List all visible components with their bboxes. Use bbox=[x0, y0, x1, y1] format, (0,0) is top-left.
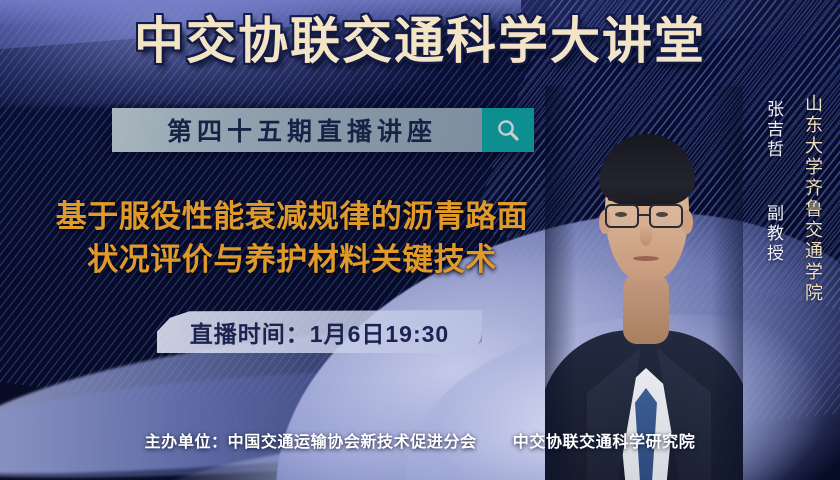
portrait-edge-fade bbox=[545, 86, 743, 480]
page-title: 基于服役性能衰减规律的沥青路面 状况评价与养护材料关键技术 bbox=[18, 196, 566, 282]
search-icon[interactable] bbox=[482, 108, 534, 152]
live-stream-poster: 中交协联交通科学大讲堂 第四十五期直播讲座 基于服役性能衰减规律的沥青路面 状况… bbox=[0, 0, 840, 480]
episode-banner: 第四十五期直播讲座 bbox=[112, 108, 534, 152]
page-title-line1: 基于服役性能衰减规律的沥青路面 bbox=[56, 199, 529, 234]
organizer-footer: 主办单位：中国交通运输协会新技术促进分会 中交协联交通科学研究院 bbox=[0, 428, 840, 452]
organizer-secondary: 中交协联交通科学研究院 bbox=[513, 434, 696, 451]
speaker-portrait bbox=[545, 86, 743, 480]
organizer-primary: 主办单位：中国交通运输协会新技术促进分会 bbox=[145, 434, 477, 451]
speaker-name-title: 张吉哲 副教授 bbox=[761, 100, 787, 264]
broadcast-time-badge: 直播时间：1月6日19:30 bbox=[157, 310, 482, 353]
speaker-affiliation: 山东大学齐鲁交通学院 bbox=[799, 94, 826, 304]
episode-banner-label: 第四十五期直播讲座 bbox=[112, 108, 482, 152]
page-title-line2: 状况评价与养护材料关键技术 bbox=[18, 239, 566, 282]
poster-header-title: 中交协联交通科学大讲堂 bbox=[0, 16, 840, 66]
